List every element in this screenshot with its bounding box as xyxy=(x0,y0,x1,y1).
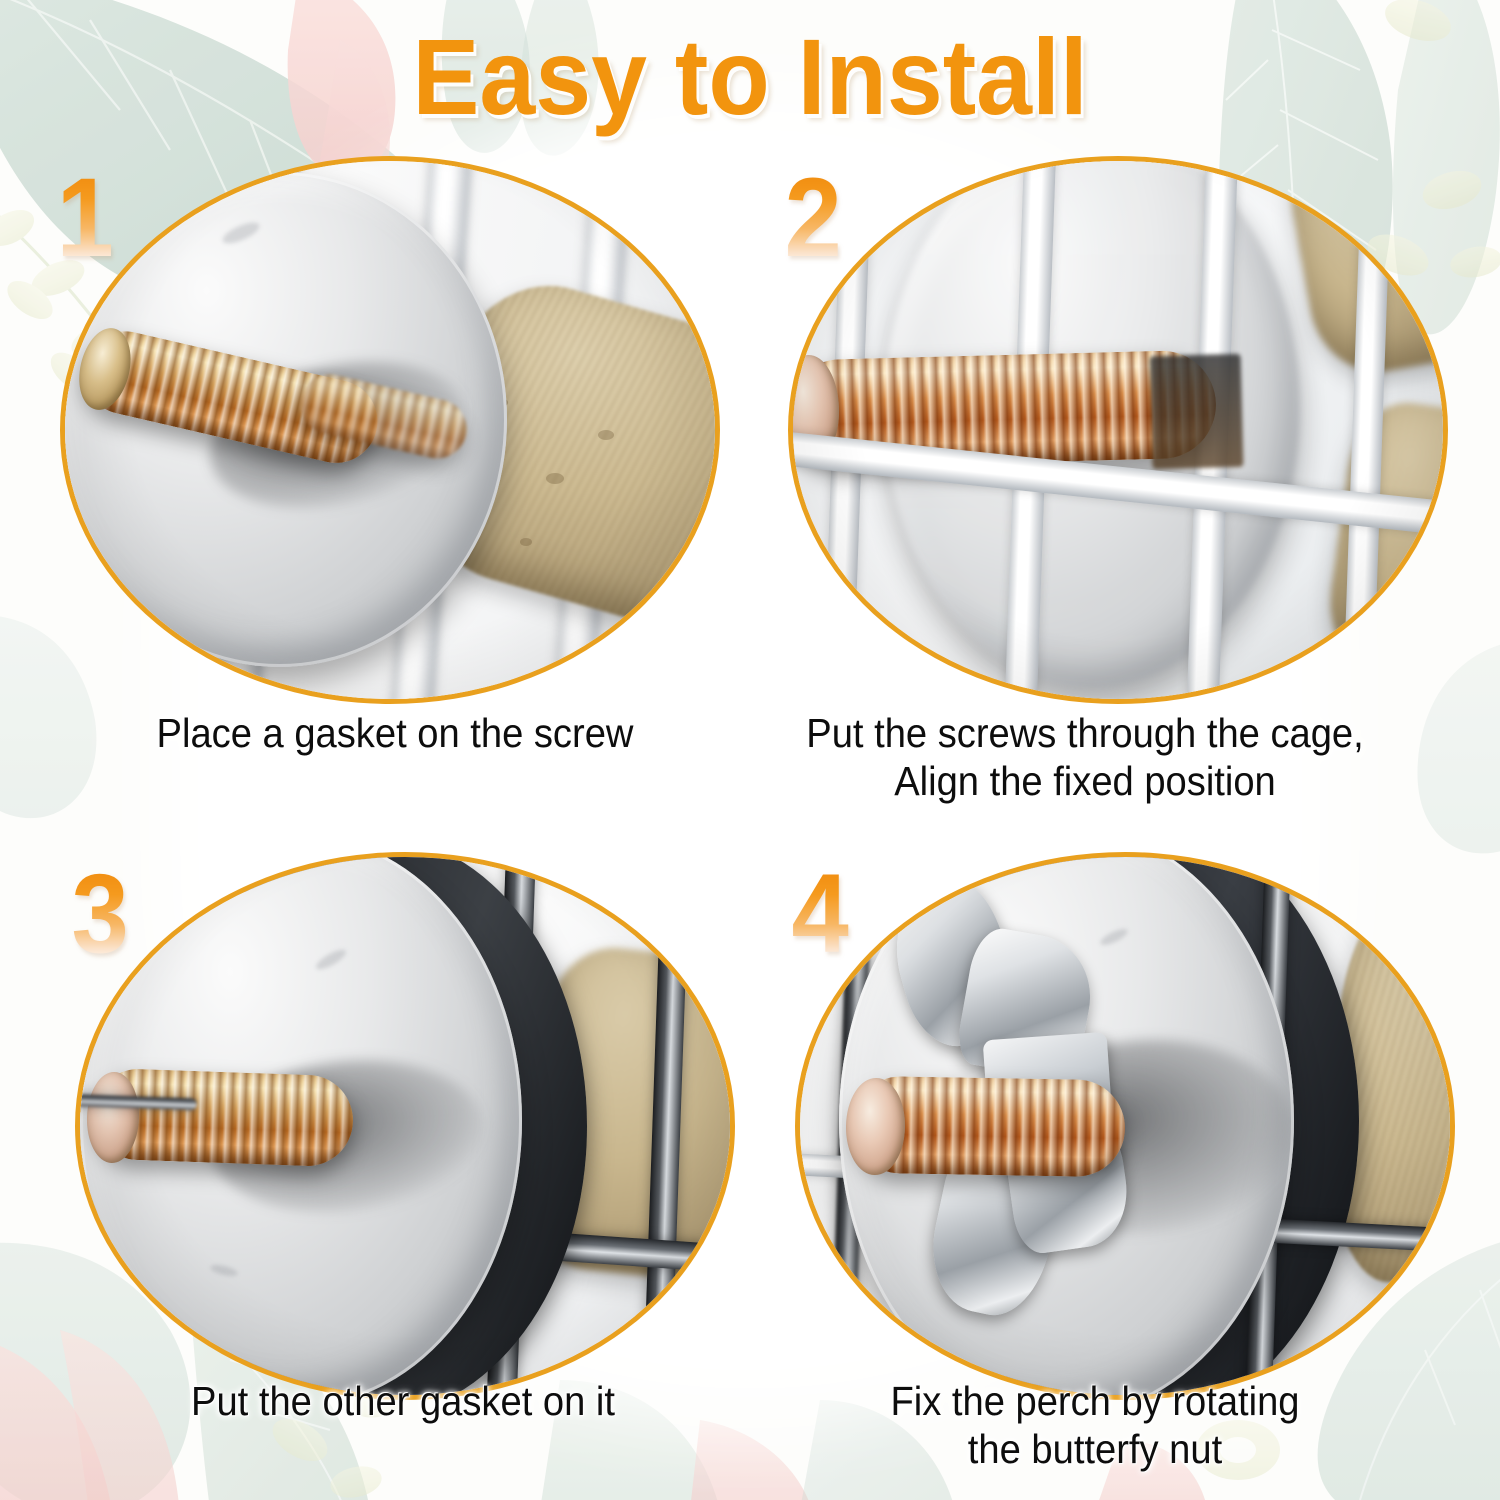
butterfly-nut-photo xyxy=(795,852,1455,1400)
step-caption-3: Put the other gasket on it xyxy=(50,1378,757,1426)
infographic-canvas: Easy to Install 1 xyxy=(0,0,1500,1500)
screw-through-cage-photo xyxy=(788,156,1448,704)
step-1: 1 xyxy=(40,150,740,710)
step-number-2: 2 xyxy=(784,168,841,269)
steps-grid: 1 xyxy=(0,0,1500,1500)
step-caption-2: Put the screws through the cage, Align t… xyxy=(732,710,1439,805)
step-number-1: 1 xyxy=(56,168,113,269)
step-caption-1: Place a gasket on the screw xyxy=(42,710,749,758)
gasket-on-screw-photo xyxy=(60,156,720,704)
step-number-4: 4 xyxy=(791,864,848,965)
step-3: 3 xyxy=(55,846,755,1406)
second-gasket-photo xyxy=(75,852,735,1400)
step-4: 4 xyxy=(775,846,1475,1406)
step-caption-4: Fix the perch by rotating the butterfy n… xyxy=(742,1378,1449,1473)
step-2: 2 xyxy=(768,150,1468,710)
step-number-3: 3 xyxy=(71,864,128,965)
